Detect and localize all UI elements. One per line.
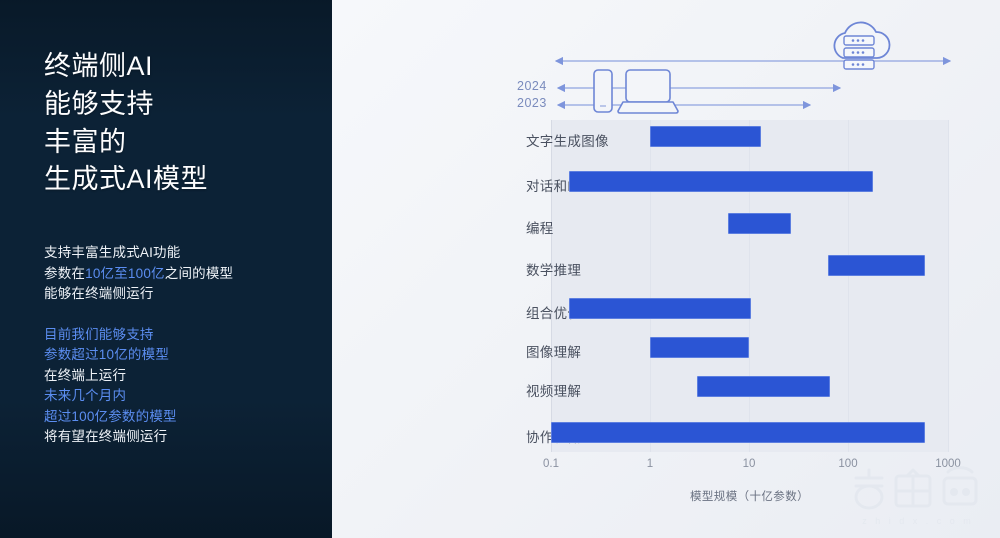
- range-bar[interactable]: [728, 213, 791, 234]
- range-bar-chart: 文字生成图像 对话和NLP 编程 数学推理 组合优化 图像理解 视频理解 协作机…: [332, 118, 1000, 538]
- gridline-1: [650, 120, 651, 452]
- year-2024-label: 2024: [517, 79, 547, 93]
- x-tick: 1000: [935, 458, 961, 470]
- page-title: 终端侧AI 能够支持 丰富的 生成式AI模型: [44, 48, 304, 199]
- year-2023-label: 2023: [517, 96, 547, 110]
- x-tick: 1: [647, 458, 653, 470]
- range-bar[interactable]: [650, 337, 749, 358]
- para1-line2-prefix: 参数在: [44, 266, 85, 281]
- left-panel: 终端侧AI 能够支持 丰富的 生成式AI模型 支持丰富生成式AI功能 参数在10…: [0, 0, 332, 538]
- cloud-server-icon: [834, 22, 889, 69]
- para1-line2-suffix: 之间的模型: [165, 266, 234, 281]
- para2-line6: 将有望在终端侧运行: [44, 427, 304, 448]
- slide-root: 终端侧AI 能够支持 丰富的 生成式AI模型 支持丰富生成式AI功能 参数在10…: [0, 0, 1000, 538]
- body-copy: 支持丰富生成式AI功能 参数在10亿至100亿之间的模型 能够在终端侧运行 目前…: [44, 243, 304, 448]
- right-panel: 2024 2023 文字生成图像 对话和NLP 编程 数学推理 组合优化: [332, 0, 1000, 538]
- range-bar[interactable]: [569, 171, 873, 192]
- para1-line1: 支持丰富生成式AI功能: [44, 243, 304, 264]
- range-bar[interactable]: [650, 126, 761, 147]
- device-timeline-legend: 2024 2023: [332, 0, 1000, 118]
- paragraph-1: 支持丰富生成式AI功能 参数在10亿至100亿之间的模型 能够在终端侧运行: [44, 243, 304, 305]
- range-bar[interactable]: [551, 422, 925, 443]
- para2-line4: 未来几个月内: [44, 386, 304, 407]
- range-bar[interactable]: [697, 376, 830, 397]
- x-axis-title: 模型规模（十亿参数）: [551, 488, 948, 504]
- gridline-100: [848, 120, 849, 452]
- x-tick: 100: [838, 458, 857, 470]
- x-tick: 0.1: [543, 458, 559, 470]
- range-bar[interactable]: [569, 298, 751, 319]
- x-tick: 10: [743, 458, 756, 470]
- range-bar[interactable]: [828, 255, 925, 276]
- laptop-icon: [618, 70, 678, 113]
- legend-svg: [332, 0, 1000, 118]
- gridline-1000: [948, 120, 949, 452]
- para2-line2: 参数超过10亿的模型: [44, 345, 304, 366]
- para1-line2: 参数在10亿至100亿之间的模型: [44, 264, 304, 285]
- para1-line3: 能够在终端侧运行: [44, 284, 304, 305]
- y-axis-line: [551, 120, 552, 452]
- para1-line2-highlight: 10亿至100亿: [85, 266, 165, 281]
- para2-line3: 在终端上运行: [44, 366, 304, 387]
- gridline-10: [749, 120, 750, 452]
- paragraph-2: 目前我们能够支持 参数超过10亿的模型 在终端上运行 未来几个月内 超过100亿…: [44, 325, 304, 448]
- phone-icon: [594, 70, 612, 112]
- para2-line1: 目前我们能够支持: [44, 325, 304, 346]
- para2-line5: 超过100亿参数的模型: [44, 407, 304, 428]
